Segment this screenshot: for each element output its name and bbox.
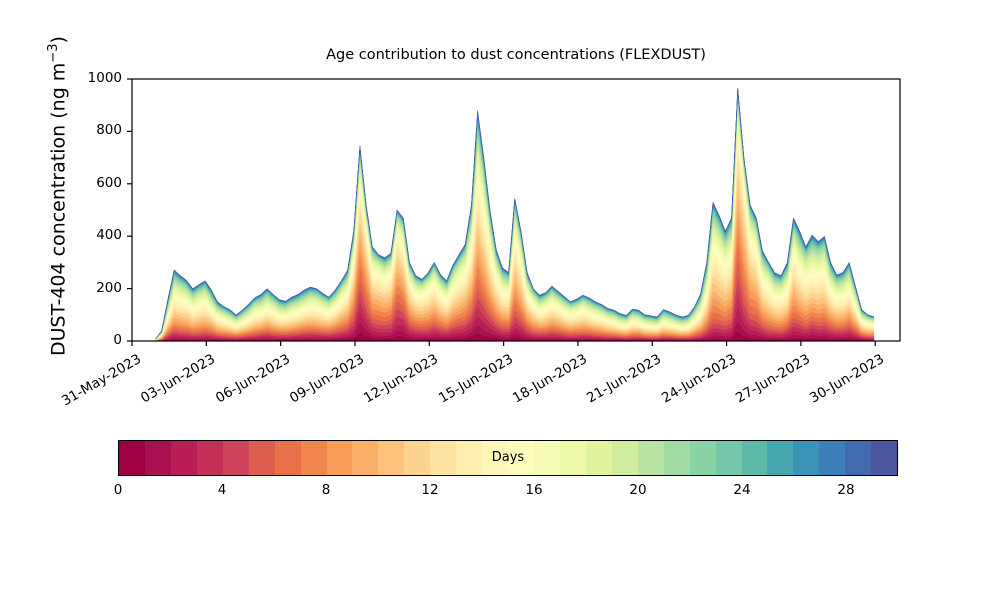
y-tick-label: 800 [74,122,122,138]
colorbar-tick-label: 16 [512,482,556,498]
y-tick-label: 400 [74,227,122,243]
y-axis-label: DUST-404 concentration (ng m−3) [46,36,69,356]
colorbar-tick-label: 12 [408,482,452,498]
y-tick-label: 600 [74,175,122,191]
figure-canvas: Age contribution to dust concentrations … [0,0,1000,600]
colorbar-tick-label: 28 [824,482,868,498]
y-tick-label: 1000 [74,70,122,86]
chart-title: Age contribution to dust concentrations … [132,47,900,63]
y-tick-label: 0 [74,332,122,348]
colorbar-tick-label: 20 [616,482,660,498]
colorbar-tick-label: 4 [200,482,244,498]
y-tick-label: 200 [74,280,122,296]
y-axis-label-text: DUST-404 concentration (ng m [47,63,69,356]
colorbar-tick-label: 8 [304,482,348,498]
chart-svg [0,0,1000,600]
colorbar-tick-label: 24 [720,482,764,498]
colorbar-tick-label: 0 [96,482,140,498]
y-axis-label-close: ) [47,36,69,43]
colorbar-label: Days [118,450,898,465]
y-axis-label-exponent: −3 [46,44,61,63]
